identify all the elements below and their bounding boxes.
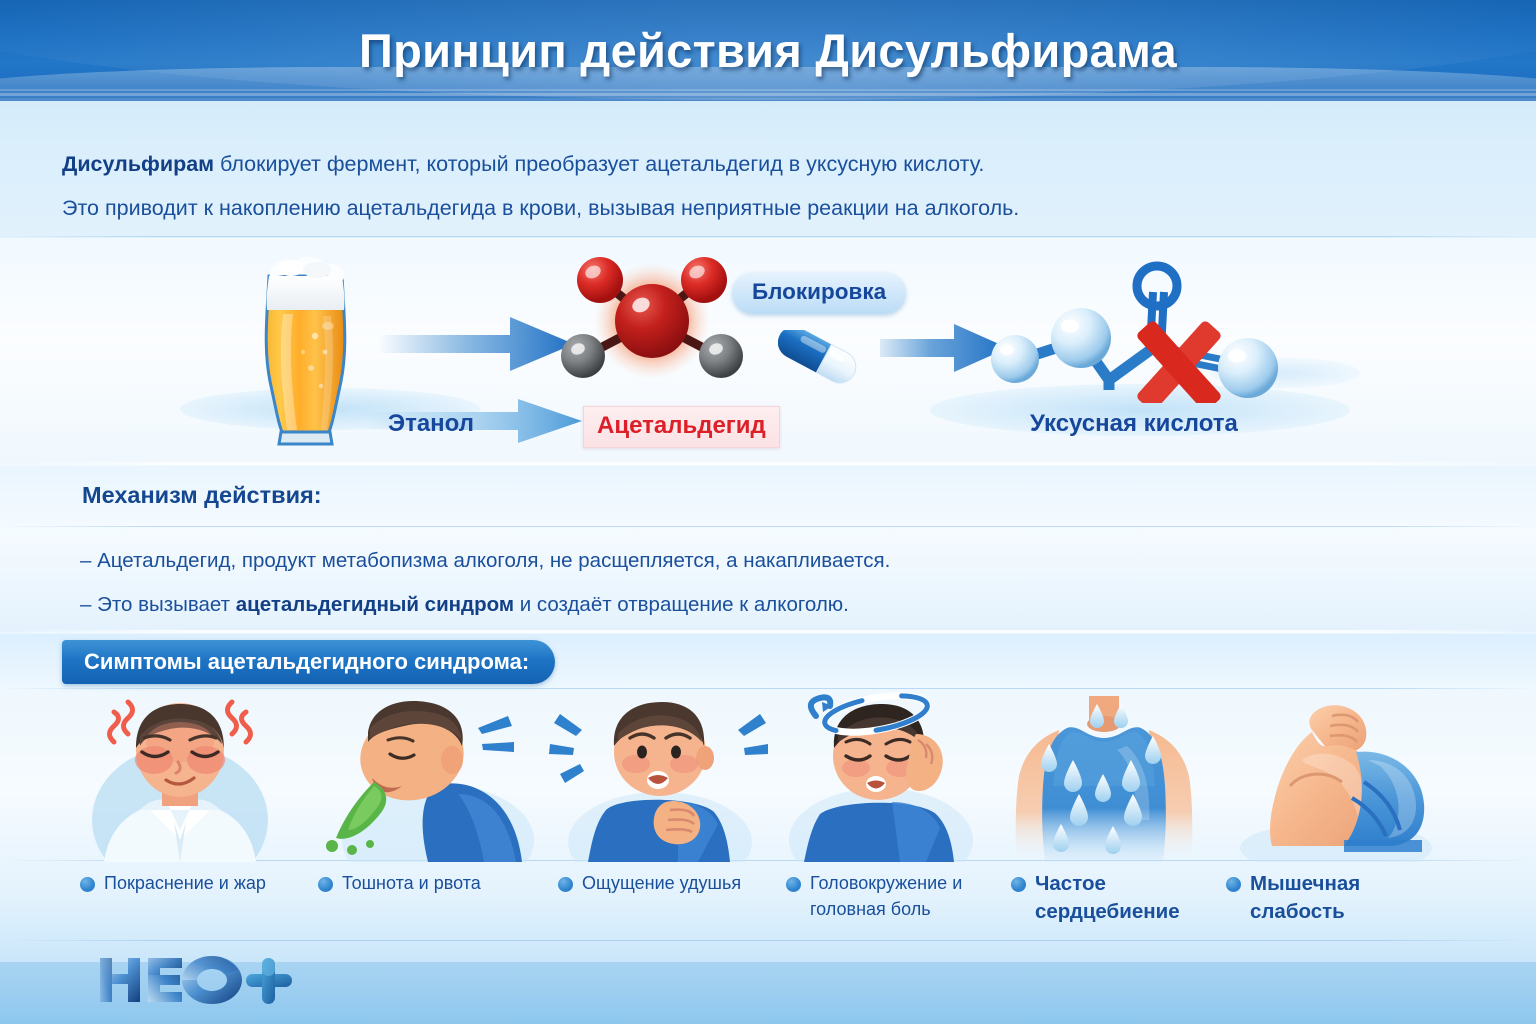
symptom-text-6: Мышечная слабость [1250, 870, 1456, 926]
symptom-text-1: Покраснение и жар [104, 870, 266, 896]
page-title: Принцип действия Дисульфирама [0, 0, 1536, 101]
neo-plus-logo-icon [96, 952, 296, 1008]
intro-text-block: Дисульфирам блокирует фермент, который п… [62, 142, 1322, 230]
intro-line-1-rest: блокирует фермент, который преобразует а… [214, 152, 984, 176]
symptom-card-3[interactable]: Ощущение удушья [548, 690, 776, 955]
block-badge: Блокировка [732, 272, 906, 314]
infographic-page: Принцип действия Дисульфирама Дисульфира… [0, 0, 1536, 1024]
symptoms-grid: Покраснение и жар [70, 690, 1470, 955]
mechanism-item-1-dash: – [80, 549, 91, 572]
symptom-text-3: Ощущение удушья [582, 870, 741, 896]
sweating-torso-icon [1001, 690, 1216, 862]
symptom-text-2: Тошнота и рвота [342, 870, 481, 896]
vomiting-person-icon [308, 690, 548, 862]
symptom-card-1[interactable]: Покраснение и жар [70, 690, 308, 955]
bullet-dot-icon [1226, 877, 1241, 892]
intro-line-1: Дисульфирам блокирует фермент, который п… [62, 142, 1322, 186]
intro-drug-name: Дисульфирам [62, 152, 214, 176]
symptom-card-2[interactable]: Тошнота и рвота [308, 690, 548, 955]
bullet-dot-icon [1011, 877, 1026, 892]
mechanism-item-2-dash: – [80, 593, 91, 616]
bullet-dot-icon [80, 877, 95, 892]
mechanism-title: Механизм действия: [82, 482, 322, 509]
symptom-text-5: Частое сердцебиение [1035, 870, 1216, 926]
symptom-label-5: Частое сердцебиение [1001, 870, 1216, 926]
mechanism-list: – Ацетальдегид, продукт метабопизма алко… [80, 539, 1260, 627]
symptom-label-3: Ощущение удушья [548, 870, 776, 896]
acetic-acid-molecule-icon [985, 258, 1285, 403]
symptom-card-6[interactable]: Мышечная слабость [1216, 690, 1456, 955]
flexed-arm-icon [1216, 690, 1456, 862]
mechanism-item-2-text-before: Это вызывает [91, 593, 235, 616]
mechanism-item-2: – Это вызывает ацетальдегидный синдром и… [80, 583, 1260, 627]
red-cross-icon [1135, 319, 1222, 403]
symptoms-header: Симптомы ацетальдегидного синдрома: [62, 640, 555, 684]
divider-under-mechanism-title [0, 526, 1536, 527]
acetic-acid-label: Уксусная кислота [1030, 410, 1238, 438]
acetaldehyde-molecule-icon [545, 255, 760, 390]
pill-capsule-icon [778, 330, 868, 386]
symptom-card-5[interactable]: Частое сердцебиение [1001, 690, 1216, 955]
beer-glass-icon [253, 256, 358, 446]
divider-above-symptoms [0, 630, 1536, 633]
divider-under-symptoms-header [0, 688, 1536, 689]
ethanol-label: Этанол [388, 410, 474, 438]
acetaldehyde-label: Ацетальдегид [583, 406, 780, 448]
mechanism-item-1-text: Ацетальдегид, продукт метабопизма алкого… [91, 549, 890, 572]
bullet-dot-icon [558, 877, 573, 892]
symptom-label-6: Мышечная слабость [1216, 870, 1456, 926]
page-header: Принцип действия Дисульфирама [0, 0, 1536, 101]
symptom-card-4[interactable]: Головокружение и головная боль [776, 690, 1001, 955]
symptom-text-4: Головокружение и головная боль [810, 870, 1001, 922]
mechanism-item-1: – Ацетальдегид, продукт метабопизма алко… [80, 539, 1260, 583]
mechanism-item-2-bold: ацетальдегидный синдром [236, 593, 514, 616]
bullet-dot-icon [786, 877, 801, 892]
bullet-dot-icon [318, 877, 333, 892]
dizzy-headache-icon [776, 690, 1001, 862]
flushed-face-icon [70, 690, 308, 862]
symptom-label-2: Тошнота и рвота [308, 870, 548, 896]
divider-below-process [0, 462, 1536, 465]
mechanism-item-2-text-after: и создаёт отвращение к алкоголю. [514, 593, 849, 616]
choking-person-icon [548, 690, 776, 862]
intro-line-2: Это приводит к накоплению ацетальдегида … [62, 186, 1322, 230]
symptom-label-4: Головокружение и головная боль [776, 870, 1001, 922]
symptom-label-1: Покраснение и жар [70, 870, 308, 896]
divider-above-process [0, 236, 1536, 237]
